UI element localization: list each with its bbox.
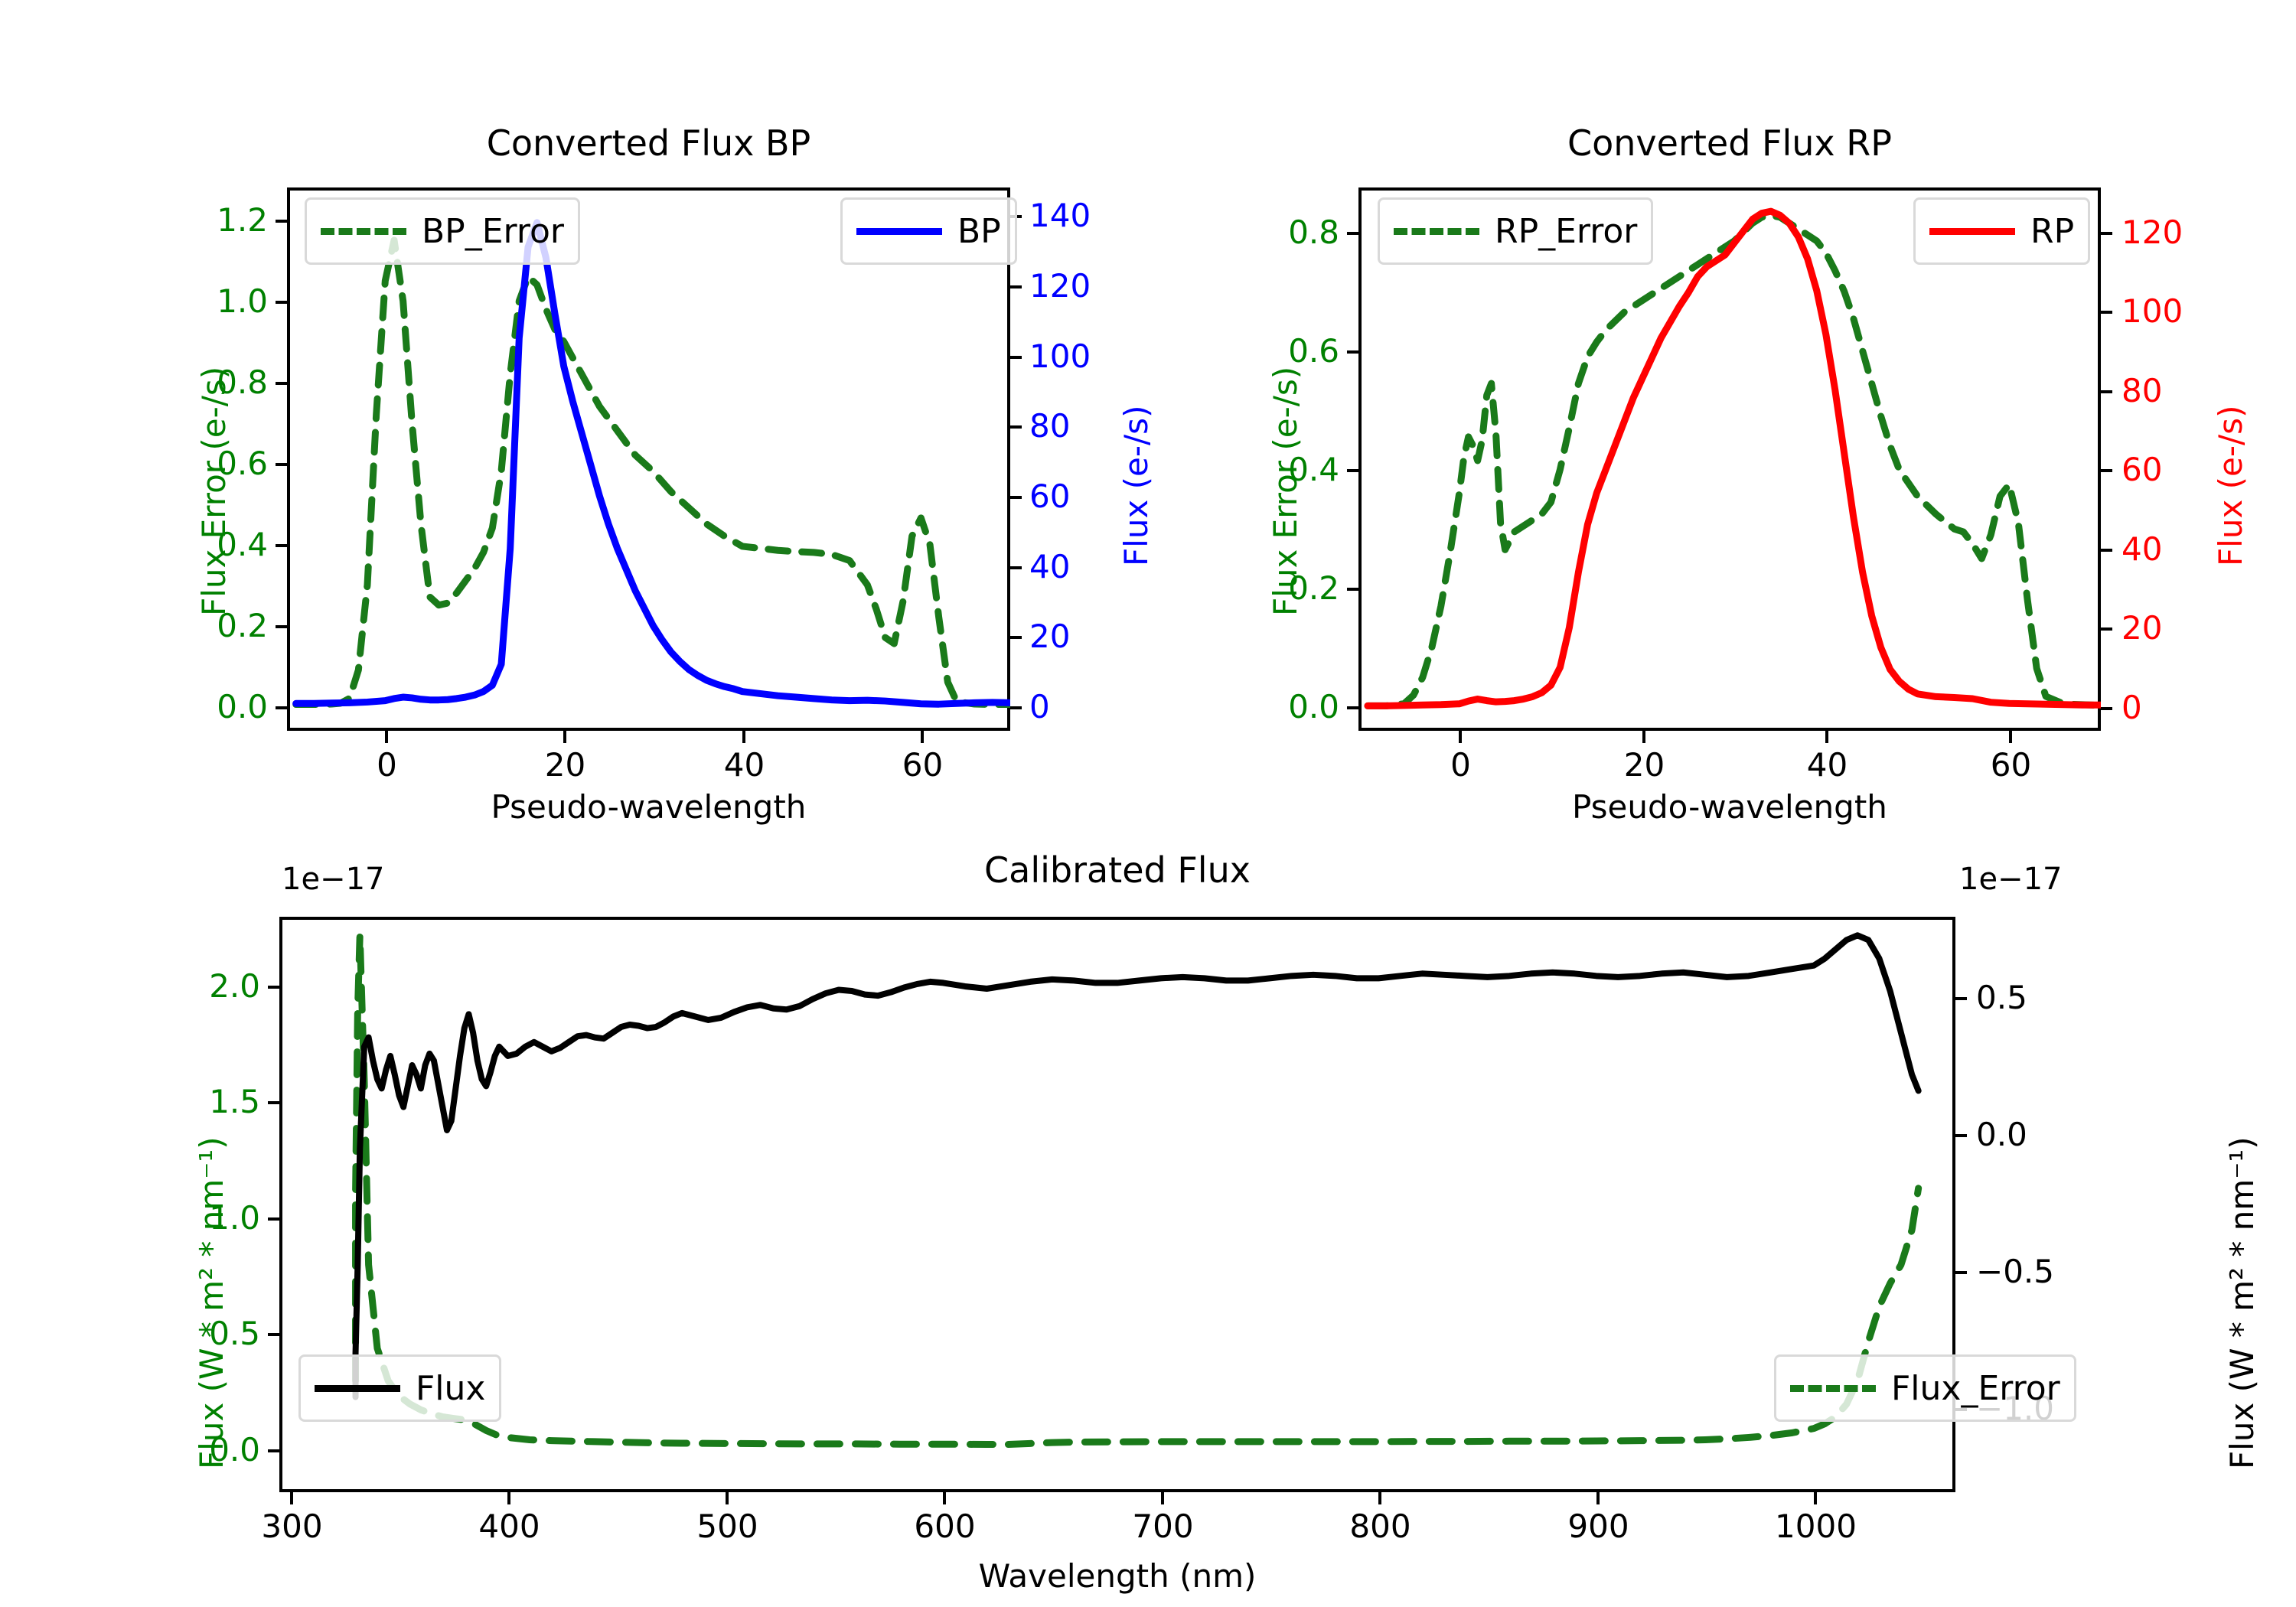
- dashed-line-swatch-icon: [321, 228, 406, 235]
- calibrated-ytick-left: [268, 1217, 279, 1221]
- dashed-line-swatch-icon: [1790, 1385, 1876, 1392]
- calibrated-ytick-label-left-2: 1.0: [184, 1199, 260, 1237]
- calibrated-ytick-right: [1955, 997, 1967, 1000]
- calibrated-xtick-label-5: 800: [1309, 1508, 1451, 1545]
- rp-ytick-label-left-3: 0.6: [1263, 332, 1339, 370]
- rp-ytick-label-left-1: 0.2: [1263, 569, 1339, 607]
- bp-ytick-label-right-2: 40: [1029, 548, 1070, 585]
- calibrated-xtick: [726, 1492, 729, 1504]
- rp-ytick-right: [2101, 311, 2112, 314]
- rp-ytick-label-right-1: 20: [2122, 609, 2162, 647]
- bp-ytick-right: [1010, 496, 1022, 499]
- solid-line-swatch-icon: [315, 1385, 400, 1392]
- calibrated-ytick-left: [268, 986, 279, 989]
- calibrated-series-flux-error: [356, 935, 1919, 1444]
- bp-ytick-left: [276, 220, 287, 223]
- bp-ylabel-left: Flux Error (e-/s): [195, 367, 233, 616]
- bp-xlabel: Pseudo-wavelength: [287, 788, 1010, 826]
- bp-ytick-left: [276, 301, 287, 304]
- bp-ytick-label-right-3: 60: [1029, 478, 1070, 515]
- calibrated-ytick-label-right-1: −0.5: [1976, 1253, 2054, 1290]
- rp-xtick: [1459, 731, 1462, 743]
- rp-xtick: [2009, 731, 2012, 743]
- rp-xtick-label-1: 20: [1604, 746, 1684, 784]
- calibrated-ytick-right: [1955, 1134, 1967, 1137]
- rp-ytick-label-right-5: 100: [2122, 292, 2183, 330]
- calibrated-ytick-left: [268, 1101, 279, 1104]
- rp-ytick-label-right-0: 0: [2122, 689, 2142, 726]
- rp-legend-error-label: RP_Error: [1495, 212, 1637, 251]
- rp-ytick-label-right-4: 80: [2122, 372, 2162, 409]
- bp-legend-error-label: BP_Error: [422, 212, 564, 251]
- bp-plot-area: [287, 187, 1010, 731]
- rp-ytick-right: [2101, 469, 2112, 472]
- calibrated-ytick-label-right-2: 0.0: [1976, 1116, 2027, 1153]
- rp-xtick: [1825, 731, 1828, 743]
- calibrated-xtick-label-3: 600: [874, 1508, 1016, 1545]
- bp-ytick-label-left-1: 0.2: [195, 607, 268, 644]
- bp-xtick-label-1: 20: [525, 746, 605, 784]
- bp-ytick-label-left-5: 1.0: [195, 282, 268, 320]
- rp-ytick-label-left-4: 0.8: [1263, 214, 1339, 251]
- bp-ytick-right: [1010, 356, 1022, 359]
- bp-legend-bp-label: BP: [957, 212, 1001, 251]
- bp-xtick: [563, 731, 566, 743]
- rp-ytick-left: [1347, 588, 1358, 591]
- rp-ytick-right: [2101, 232, 2112, 235]
- calibrated-xtick: [1596, 1492, 1600, 1504]
- calibrated-xtick: [507, 1492, 510, 1504]
- figure-canvas: Converted Flux BP Flux Error (e-/s) Flux…: [0, 0, 2296, 1607]
- calibrated-legend-flux-label: Flux: [416, 1369, 485, 1408]
- rp-ytick-left: [1347, 350, 1358, 354]
- calibrated-ytick-label-left-1: 0.5: [184, 1315, 260, 1352]
- rp-title: Converted Flux RP: [1358, 122, 2101, 164]
- bp-ytick-label-right-7: 140: [1029, 197, 1091, 234]
- calibrated-xlabel: Wavelength (nm): [279, 1557, 1955, 1595]
- calibrated-offset-left: 1e−17: [282, 862, 384, 897]
- calibrated-ytick-label-left-0: 0.0: [184, 1431, 260, 1468]
- calibrated-xtick: [1161, 1492, 1164, 1504]
- calibrated-xtick: [1378, 1492, 1381, 1504]
- bp-ytick-label-left-0: 0.0: [195, 688, 268, 725]
- bp-ytick-left: [276, 544, 287, 547]
- calibrated-xtick-label-7: 1000: [1745, 1508, 1887, 1545]
- panel-calibrated-flux: Calibrated Flux 1e−17 1e−17 Flux (W * m²…: [0, 834, 2296, 1607]
- bp-ytick-label-left-3: 0.6: [195, 445, 268, 482]
- calibrated-xtick-label-2: 500: [657, 1508, 798, 1545]
- rp-ytick-right: [2101, 627, 2112, 631]
- dashed-line-swatch-icon: [1394, 228, 1479, 235]
- bp-title: Converted Flux BP: [287, 122, 1010, 164]
- rp-ytick-left: [1347, 232, 1358, 235]
- bp-legend-bp[interactable]: BP: [840, 197, 1017, 265]
- bp-xtick-label-2: 40: [704, 746, 784, 784]
- panel-converted-flux-rp: Converted Flux RP Flux Error (e-/s) Flux…: [1148, 0, 2296, 834]
- rp-xtick-label-3: 60: [1971, 746, 2051, 784]
- calibrated-xtick: [1814, 1492, 1817, 1504]
- bp-ytick-right: [1010, 636, 1022, 639]
- calibrated-legend-flux[interactable]: Flux: [298, 1354, 501, 1422]
- calibrated-xtick: [290, 1492, 293, 1504]
- calibrated-xtick-label-4: 700: [1092, 1508, 1234, 1545]
- bp-series-bp-error: [296, 240, 1010, 705]
- rp-ylabel-right: Flux (e-/s): [2212, 406, 2249, 566]
- rp-ytick-label-left-0: 0.0: [1263, 688, 1339, 725]
- bp-ytick-left: [276, 625, 287, 628]
- bp-ytick-label-right-0: 0: [1029, 688, 1050, 725]
- solid-line-swatch-icon: [856, 228, 942, 235]
- bp-xtick: [385, 731, 388, 743]
- bp-ytick-label-right-1: 20: [1029, 618, 1070, 655]
- rp-ytick-right: [2101, 549, 2112, 552]
- calibrated-ytick-label-left-3: 1.5: [184, 1083, 260, 1120]
- rp-xtick-label-2: 40: [1787, 746, 1867, 784]
- bp-ytick-right: [1010, 706, 1022, 709]
- panel-converted-flux-bp: Converted Flux BP Flux Error (e-/s) Flux…: [0, 0, 1148, 834]
- calibrated-ytick-right: [1955, 1271, 1967, 1274]
- calibrated-offset-right: 1e−17: [1959, 862, 2062, 897]
- rp-xtick-label-0: 0: [1420, 746, 1501, 784]
- rp-legend-error[interactable]: RP_Error: [1378, 197, 1653, 265]
- bp-ytick-left: [276, 706, 287, 709]
- calibrated-xtick: [943, 1492, 946, 1504]
- rp-xtick: [1642, 731, 1645, 743]
- bp-xtick-label-0: 0: [347, 746, 427, 784]
- rp-xlabel: Pseudo-wavelength: [1358, 788, 2101, 826]
- bp-legend-error[interactable]: BP_Error: [305, 197, 580, 265]
- calibrated-plot-area: [279, 917, 1955, 1492]
- bp-ytick-label-right-6: 120: [1029, 267, 1091, 305]
- bp-ytick-label-right-5: 100: [1029, 337, 1091, 375]
- calibrated-xtick-label-0: 300: [221, 1508, 363, 1545]
- bp-xtick: [921, 731, 924, 743]
- bp-ytick-label-left-4: 0.8: [195, 363, 268, 401]
- rp-ytick-left: [1347, 469, 1358, 472]
- bp-ytick-right: [1010, 285, 1022, 288]
- rp-ytick-label-right-3: 60: [2122, 451, 2162, 488]
- bp-xtick: [742, 731, 745, 743]
- rp-legend-rp[interactable]: RP: [1913, 197, 2090, 265]
- bp-ytick-left: [276, 463, 287, 466]
- rp-ytick-label-left-2: 0.4: [1263, 451, 1339, 488]
- rp-ytick-label-right-6: 120: [2122, 214, 2183, 251]
- rp-ytick-right: [2101, 707, 2112, 710]
- calibrated-ylabel-right: Flux (W * m² * nm⁻¹): [2223, 1136, 2261, 1469]
- rp-ytick-right: [2101, 390, 2112, 393]
- rp-ytick-left: [1347, 706, 1358, 709]
- calibrated-xtick-label-1: 400: [439, 1508, 580, 1545]
- bp-ytick-left: [276, 382, 287, 385]
- calibrated-title: Calibrated Flux: [279, 849, 1955, 891]
- calibrated-series-flux: [356, 935, 1919, 1397]
- bp-ytick-right: [1010, 566, 1022, 569]
- solid-line-swatch-icon: [1929, 228, 2015, 235]
- calibrated-ytick-left: [268, 1333, 279, 1336]
- calibrated-ytick-label-left-4: 2.0: [184, 967, 260, 1005]
- rp-plot-area: [1358, 187, 2101, 731]
- calibrated-ylabel-left: Flux (W * m² * nm⁻¹): [193, 1136, 230, 1469]
- bp-ytick-label-left-2: 0.4: [195, 526, 268, 563]
- rp-legend-rp-label: RP: [2030, 212, 2074, 251]
- calibrated-xtick-label-6: 900: [1528, 1508, 1669, 1545]
- calibrated-ytick-left: [268, 1449, 279, 1452]
- bp-ytick-label-left-6: 1.2: [195, 201, 268, 239]
- bp-ytick-right: [1010, 425, 1022, 429]
- rp-series-rp-error: [1368, 215, 2101, 706]
- bp-xtick-label-3: 60: [882, 746, 963, 784]
- calibrated-legend-flux-error-label: Flux_Error: [1891, 1369, 2060, 1408]
- rp-ytick-label-right-2: 40: [2122, 530, 2162, 568]
- bp-ytick-label-right-4: 80: [1029, 407, 1070, 445]
- calibrated-legend-flux-error[interactable]: Flux_Error: [1774, 1354, 2076, 1422]
- calibrated-ytick-label-right-3: 0.5: [1976, 979, 2027, 1016]
